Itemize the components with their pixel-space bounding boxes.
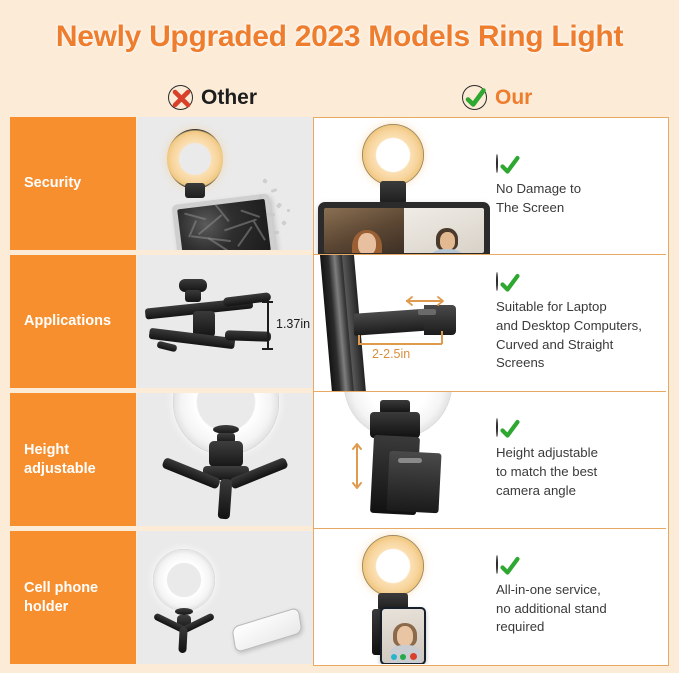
feature-label-cell: Security bbox=[10, 117, 136, 250]
our-row: 2-2.5in Suitable for Laptop and Desktop … bbox=[314, 255, 666, 392]
other-image-cell bbox=[137, 531, 313, 664]
our-annotation-text: 2-2.5in bbox=[372, 347, 410, 361]
page-title: Newly Upgraded 2023 Models Ring Light bbox=[0, 20, 679, 54]
our-benefit-text-block: All-in-one service, no additional stand … bbox=[496, 529, 664, 664]
ring-light-with-sliding-height-clamp bbox=[314, 392, 490, 528]
our-benefit-text: All-in-one service, no additional stand … bbox=[496, 581, 660, 637]
our-benefit-text-block: Height adjustable to match the best came… bbox=[496, 392, 664, 528]
feature-label-text: Applications bbox=[24, 312, 111, 331]
double-arrow-vertical-icon bbox=[348, 438, 366, 494]
our-row: All-in-one service, no additional stand … bbox=[314, 529, 666, 664]
our-benefit-text: Suitable for Laptop and Desktop Computer… bbox=[496, 298, 660, 373]
dimension-line bbox=[267, 301, 269, 349]
check-circle-icon bbox=[496, 155, 660, 173]
feature-label-cell: Cell phone holder bbox=[10, 531, 136, 664]
ring-light-on-fixed-mini-tripod bbox=[137, 393, 313, 526]
feature-label-text: Cell phone holder bbox=[24, 579, 98, 617]
adjustable-bracket-arm-on-screen: 2-2.5in bbox=[314, 255, 490, 391]
double-arrow-icon bbox=[400, 294, 450, 308]
column-headers: Other Our bbox=[0, 82, 679, 112]
cross-circle-icon bbox=[168, 85, 193, 110]
ring-light-clipped-on-laptop-video-call bbox=[314, 118, 490, 254]
our-benefit-text-block: Suitable for Laptop and Desktop Computer… bbox=[496, 255, 664, 391]
our-benefit-text: No Damage to The Screen bbox=[496, 180, 660, 217]
feature-label-text: Height adjustable bbox=[24, 441, 96, 479]
our-column-panel: No Damage to The Screen bbox=[313, 117, 669, 666]
black-spring-clamp-clip: 1.37in bbox=[137, 255, 313, 388]
feature-label-text: Security bbox=[24, 174, 81, 193]
feature-label-cell: Height adjustable bbox=[10, 393, 136, 526]
other-image-cell bbox=[137, 393, 313, 526]
our-row: No Damage to The Screen bbox=[314, 118, 666, 255]
ring-light-clipped-on-phone-video-call bbox=[314, 529, 490, 664]
column-header-other: Other bbox=[168, 82, 257, 112]
feature-label-cell: Applications bbox=[10, 255, 136, 388]
other-annotation-text: 1.37in bbox=[276, 317, 310, 331]
our-benefit-text-block: No Damage to The Screen bbox=[496, 118, 664, 254]
our-benefit-text: Height adjustable to match the best came… bbox=[496, 444, 660, 500]
smartphone-illustration bbox=[380, 607, 426, 664]
column-header-our: Our bbox=[462, 82, 532, 112]
check-circle-icon bbox=[496, 556, 660, 574]
column-header-other-label: Other bbox=[201, 87, 257, 108]
check-circle-icon bbox=[496, 273, 660, 291]
column-header-our-label: Our bbox=[495, 87, 532, 108]
smartphone-illustration bbox=[231, 607, 302, 653]
comparison-table: Security bbox=[10, 117, 669, 666]
ring-light-tripod-with-separate-phone bbox=[137, 531, 313, 664]
ring-light-on-cracked-tablet-screen bbox=[137, 117, 313, 250]
other-image-cell bbox=[137, 117, 313, 250]
laptop-illustration bbox=[318, 202, 490, 254]
other-image-cell: 1.37in bbox=[137, 255, 313, 388]
check-circle-icon bbox=[496, 419, 660, 437]
check-circle-icon bbox=[462, 85, 487, 110]
our-row: Height adjustable to match the best came… bbox=[314, 392, 666, 529]
